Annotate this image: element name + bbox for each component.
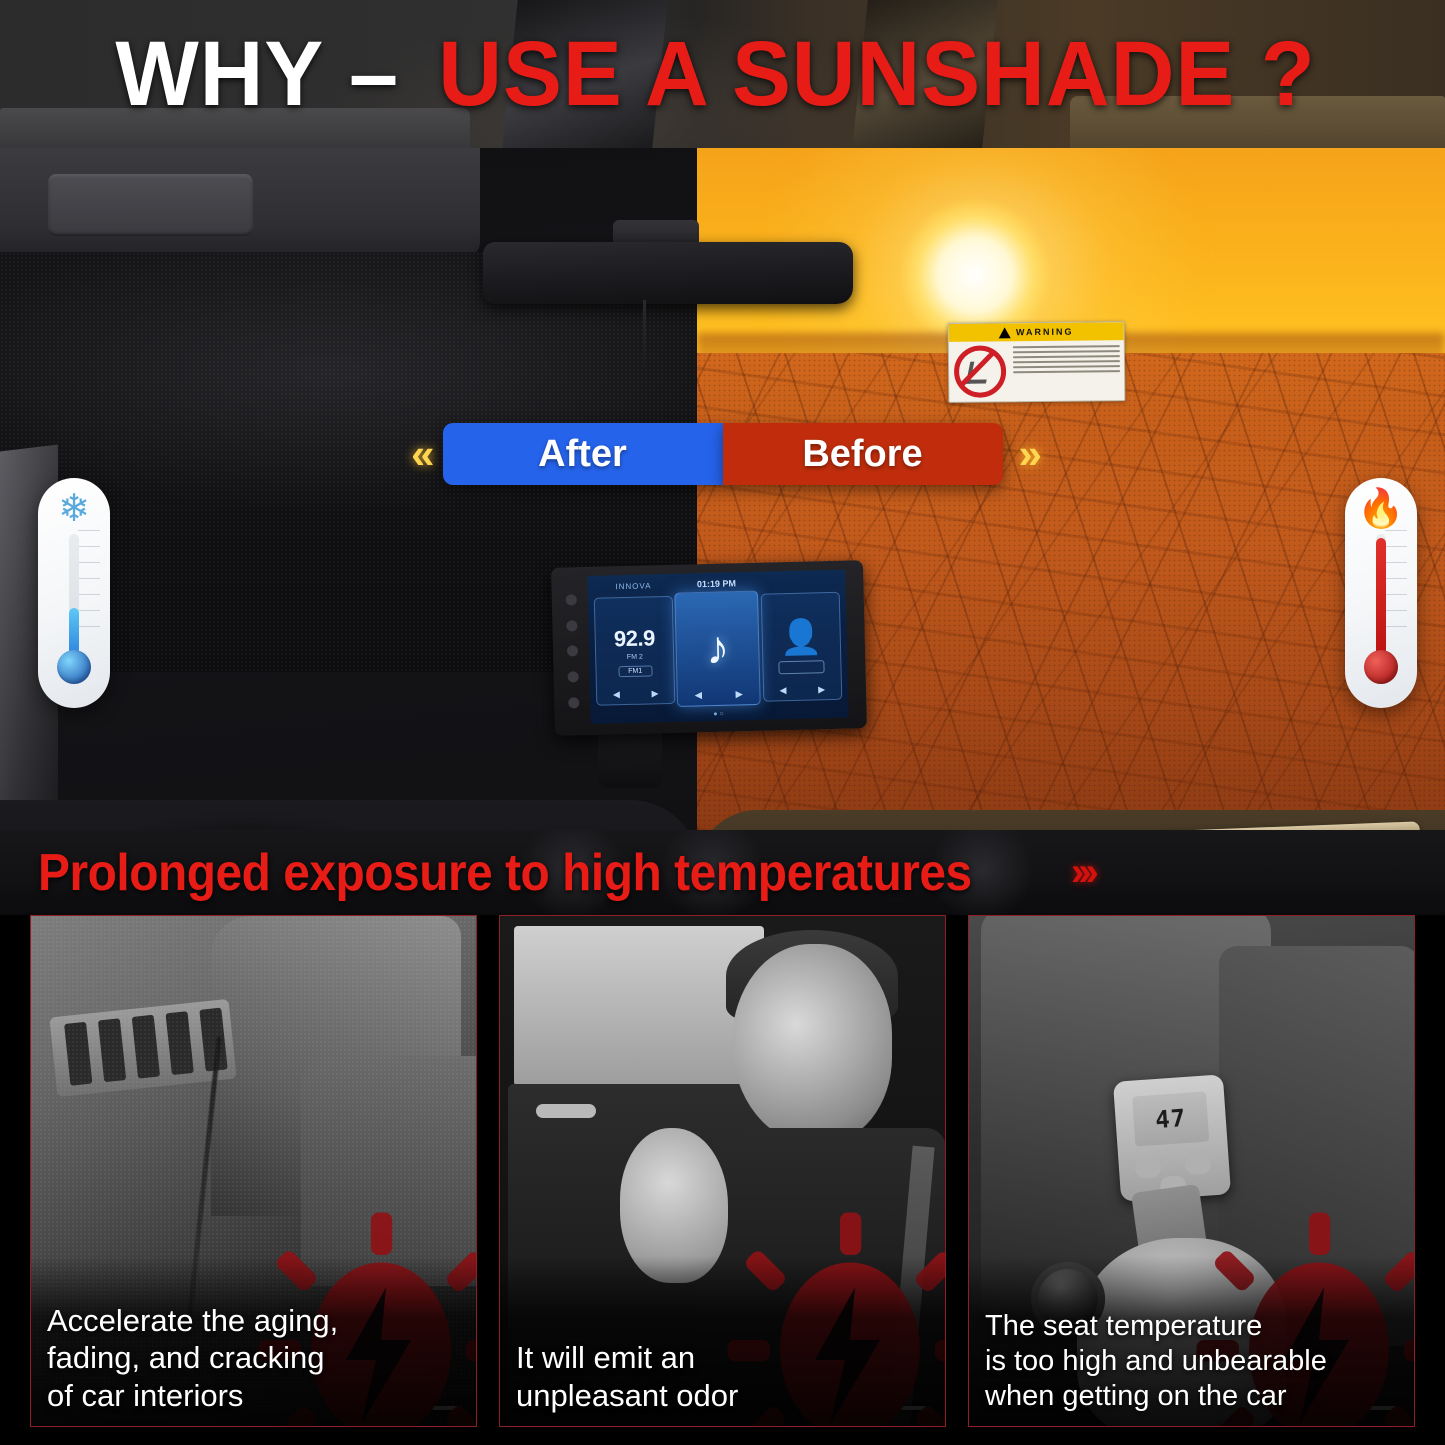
thermometer-lcd: 47 xyxy=(1132,1092,1209,1147)
mirror-glass-decor xyxy=(483,242,853,304)
mid-banner: Prolonged exposure to high temperatures … xyxy=(0,830,1445,915)
visor-mirror-slot xyxy=(48,174,253,236)
person-icon: 👤 xyxy=(779,620,822,655)
screen-clock: 01:19 PM xyxy=(587,576,845,592)
panel-1-caption: Accelerate the aging, fading, and cracki… xyxy=(31,1302,476,1427)
thermometer-ticks-hot xyxy=(1385,530,1407,660)
screen-tiles: 92.9 FM 2 FM1 ◀ ▶ ♪ ◀ ▶ xyxy=(594,592,843,706)
chevron-left-icon: « xyxy=(395,430,442,478)
product-infographic: WHY – USE A SUNSHADE ? WA xyxy=(0,0,1445,1445)
radio-band: FM1 xyxy=(618,665,652,677)
caption-line: It will emit an xyxy=(516,1339,931,1377)
caption-line: when getting on the car xyxy=(985,1379,1400,1414)
panel-2-caption: It will emit an unpleasant odor xyxy=(500,1339,945,1426)
caption-line: The seat temperature xyxy=(985,1309,1400,1344)
mid-banner-text: Prolonged exposure to high temperatures xyxy=(38,843,972,903)
radio-next-icon[interactable]: ▶ xyxy=(651,688,658,699)
warning-label-textlines xyxy=(1011,340,1125,401)
radio-nav-arrows[interactable]: ◀ ▶ xyxy=(597,688,675,701)
panel-seat-temperature: 47 xyxy=(968,915,1415,1427)
thermometer-bulb-hot xyxy=(1364,650,1398,684)
thermometer-ticks-cold xyxy=(78,530,100,660)
radio-prev-icon[interactable]: ◀ xyxy=(613,689,620,700)
panel-unpleasant-odor: It will emit an unpleasant odor xyxy=(499,915,946,1427)
person-head-decor xyxy=(732,944,892,1144)
caption-line: is too high and unbearable xyxy=(985,1344,1400,1379)
thermometer-reading: 47 xyxy=(1154,1104,1187,1134)
hot-thermometer: 🔥 xyxy=(1345,478,1417,708)
media-tile[interactable]: ♪ ◀ ▶ xyxy=(675,591,762,708)
caption-line: unpleasant odor xyxy=(516,1377,931,1415)
infrared-thermometer-device: 47 xyxy=(1113,1074,1231,1201)
title-why: WHY xyxy=(115,22,324,127)
media-nav-arrows[interactable]: ◀ ▶ xyxy=(678,688,760,702)
title-use-a-sunshade: USE A SUNSHADE ? xyxy=(439,22,1316,127)
dashboard-left-dark xyxy=(0,800,700,830)
title-dash: – xyxy=(330,22,418,127)
caption-line: of car interiors xyxy=(47,1377,462,1415)
rearview-mirror xyxy=(483,242,853,328)
phone-prev-icon[interactable]: ◀ xyxy=(779,685,786,696)
sun-visor-left xyxy=(0,148,480,258)
cold-thermometer: ❄ xyxy=(38,478,110,708)
head-unit-side-buttons[interactable] xyxy=(559,587,584,715)
panel-aging-interiors: Accelerate the aging, fading, and cracki… xyxy=(30,915,477,1427)
infotainment-head-unit: INNOVA 01:19 PM 92.9 FM 2 FM1 ◀ ▶ ♪ xyxy=(551,560,867,736)
warning-label-header: WARNING xyxy=(949,322,1124,342)
thermometer-bulb-cold xyxy=(57,650,91,684)
warning-triangle-icon xyxy=(999,327,1011,338)
infotainment-screen[interactable]: INNOVA 01:19 PM 92.9 FM 2 FM1 ◀ ▶ ♪ xyxy=(587,570,849,724)
before-after-badges: « After Before » xyxy=(0,414,1445,494)
mirror-cord-decor xyxy=(643,300,646,374)
warning-text: WARNING xyxy=(1016,327,1074,338)
airbag-warning-label: WARNING xyxy=(948,321,1126,403)
no-child-seat-icon xyxy=(949,341,1012,402)
flame-icon: 🔥 xyxy=(1345,490,1417,528)
after-badge[interactable]: After xyxy=(443,423,723,485)
music-note-icon: ♪ xyxy=(706,625,730,672)
radio-frequency: 92.9 xyxy=(614,625,655,652)
phone-tile[interactable]: 👤 ◀ ▶ xyxy=(760,592,842,702)
caption-line: Accelerate the aging, xyxy=(47,1302,462,1340)
caption-line: fading, and cracking xyxy=(47,1339,462,1377)
screen-page-dots: ●○ xyxy=(591,708,849,721)
phone-nav-arrows[interactable]: ◀ ▶ xyxy=(764,684,842,697)
radio-station: FM 2 xyxy=(627,653,643,660)
door-handle-decor xyxy=(536,1104,596,1118)
phone-next-icon[interactable]: ▶ xyxy=(818,684,825,695)
head-unit-mount xyxy=(598,726,662,788)
warning-label-body xyxy=(949,340,1125,402)
consequence-panels: Accelerate the aging, fading, and cracki… xyxy=(0,915,1445,1445)
panel-3-caption: The seat temperature is too high and unb… xyxy=(969,1309,1414,1426)
page-title: WHY – USE A SUNSHADE ? xyxy=(0,0,1445,148)
radio-tile[interactable]: 92.9 FM 2 FM1 ◀ ▶ xyxy=(594,596,676,706)
mid-banner-chevrons-icon: ››› xyxy=(1071,850,1093,895)
before-badge[interactable]: Before xyxy=(723,423,1003,485)
media-prev-icon[interactable]: ◀ xyxy=(695,689,703,701)
chevron-right-icon: » xyxy=(1003,430,1050,478)
snowflake-icon: ❄ xyxy=(38,490,110,528)
media-next-icon[interactable]: ▶ xyxy=(736,688,744,700)
phone-bar-decor xyxy=(779,660,825,674)
